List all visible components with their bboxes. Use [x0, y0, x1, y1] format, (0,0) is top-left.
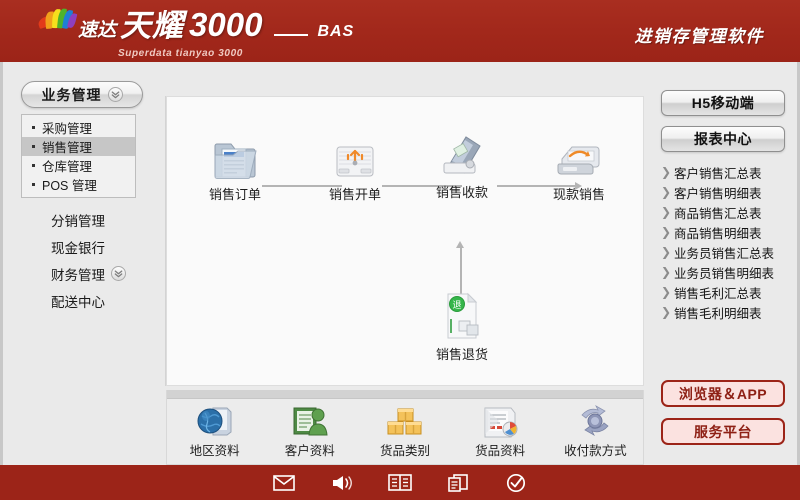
report-link-salesperson-sales-detail[interactable]: ❯ 业务员销售明细表 [661, 262, 791, 282]
flow-node-sales-order[interactable]: 销售订单 [191, 135, 279, 203]
sidebar-submenu-label: POS 管理 [42, 175, 97, 194]
boxes-icon [362, 403, 448, 439]
report-link-label: 销售毛利明细表 [674, 303, 762, 322]
report-link-label: 业务员销售汇总表 [674, 243, 774, 262]
sidebar-main-label: 现金银行 [51, 237, 105, 257]
chevron-double-down-icon[interactable] [111, 266, 126, 281]
basic-item-payment-method[interactable]: 收付款方式 [552, 403, 638, 459]
chevron-right-icon: ❯ [661, 306, 674, 318]
brand-edition: BAS [317, 24, 354, 40]
flow-node-sales-receipt[interactable]: 销售收款 [418, 133, 506, 201]
sidebar-submenu-label: 采购管理 [42, 118, 92, 137]
sales-flow-panel: 销售订单 [166, 96, 644, 386]
brand-pinyin: Superdata tianyao 3000 [118, 48, 354, 59]
flow-node-label: 销售订单 [191, 184, 279, 203]
globe-icon [172, 403, 258, 439]
report-link-label: 客户销售汇总表 [674, 163, 762, 182]
service-platform-button[interactable]: 服务平台 [661, 418, 785, 445]
report-link-label: 商品销售明细表 [674, 223, 762, 242]
body-area: 业务管理 采购管理 销售管理 [0, 62, 800, 465]
chevron-right-icon: ❯ [661, 226, 674, 238]
payment-cycle-icon [552, 403, 638, 439]
report-link-gross-profit-detail[interactable]: ❯ 销售毛利明细表 [661, 302, 791, 322]
chevron-right-icon: ❯ [661, 166, 674, 178]
bullet-icon [32, 126, 35, 129]
report-link-customer-sales-detail[interactable]: ❯ 客户销售明细表 [661, 182, 791, 202]
bullet-icon [32, 164, 35, 167]
brand-logo: 速达 天耀 3000 BAS Superdata tianyao 3000 [38, 8, 354, 59]
flow-node-label: 销售退货 [418, 344, 506, 363]
left-sidebar: 业务管理 采购管理 销售管理 [21, 81, 151, 314]
basic-item-goods-category[interactable]: 货品类别 [362, 403, 448, 459]
butterfly-logo-icon [38, 8, 74, 38]
basic-item-label: 货品类别 [362, 440, 448, 459]
brand-name-sudа: 速达 [78, 21, 116, 40]
bullet-icon [32, 183, 35, 186]
sidebar-submenu: 采购管理 销售管理 仓库管理 POS 管理 [21, 114, 136, 198]
brand-name-tianyao: 天耀 [120, 10, 184, 41]
sidebar-main-label: 财务管理 [51, 264, 105, 284]
svg-text:退: 退 [452, 300, 461, 311]
report-link-label: 销售毛利汇总表 [674, 283, 762, 302]
application-window: 速达 天耀 3000 BAS Superdata tianyao 3000 进销… [0, 0, 800, 500]
sidebar-item-purchase[interactable]: 采购管理 [22, 118, 135, 137]
app-header: 速达 天耀 3000 BAS Superdata tianyao 3000 进销… [0, 0, 800, 62]
sidebar-main-label: 配送中心 [51, 291, 105, 311]
report-link-product-sales-detail[interactable]: ❯ 商品销售明细表 [661, 222, 791, 242]
basic-item-label: 货品资料 [457, 440, 543, 459]
payment-terminal-icon [418, 133, 506, 179]
sidebar-main-label: 分销管理 [51, 210, 105, 230]
sidebar-module-label: 业务管理 [42, 85, 102, 105]
brand-version-number: 3000 [189, 8, 262, 41]
sidebar-main-menu: 分销管理 现金银行 财务管理 配送中心 [21, 206, 151, 314]
report-link-product-sales-summary[interactable]: ❯ 商品销售汇总表 [661, 202, 791, 222]
sidebar-module-button-business[interactable]: 业务管理 [21, 81, 143, 108]
report-link-salesperson-sales-summary[interactable]: ❯ 业务员销售汇总表 [661, 242, 791, 262]
invoice-device-icon [311, 135, 399, 181]
flow-node-sales-return[interactable]: 退 销售退货 [418, 289, 506, 363]
goods-report-icon [457, 403, 543, 439]
bullet-icon [32, 145, 35, 148]
status-bar [0, 465, 800, 500]
chevron-right-icon: ❯ [661, 206, 674, 218]
brand-text: 速达 天耀 3000 BAS Superdata tianyao 3000 [78, 8, 354, 59]
clock-check-icon[interactable] [504, 472, 528, 494]
report-link-label: 商品销售汇总表 [674, 203, 762, 222]
sidebar-item-warehouse[interactable]: 仓库管理 [22, 156, 135, 175]
flow-node-sales-invoice[interactable]: 销售开单 [311, 135, 399, 203]
chevron-right-icon: ❯ [661, 246, 674, 258]
basic-item-label: 收付款方式 [552, 440, 638, 459]
right-sidebar-action-buttons: 浏览器＆APP 服务平台 [661, 380, 791, 456]
brand-dash [274, 34, 308, 36]
sidebar-item-finance[interactable]: 财务管理 [21, 260, 151, 287]
cash-sale-icon [535, 135, 623, 181]
chevron-right-icon: ❯ [661, 286, 674, 298]
flow-node-label: 销售收款 [418, 182, 506, 201]
header-tagline: 进销存管理软件 [635, 22, 765, 47]
sidebar-submenu-label: 销售管理 [42, 137, 92, 156]
sidebar-item-sales[interactable]: 销售管理 [22, 137, 135, 156]
mail-icon[interactable] [272, 472, 296, 494]
basic-data-panel: 地区资料 [166, 390, 644, 465]
sidebar-item-cash-bank[interactable]: 现金银行 [21, 233, 151, 260]
report-link-gross-profit-summary[interactable]: ❯ 销售毛利汇总表 [661, 282, 791, 302]
basic-item-customer[interactable]: 客户资料 [267, 403, 353, 459]
volume-icon[interactable] [330, 472, 354, 494]
flow-node-cash-sale[interactable]: 现款销售 [535, 135, 623, 203]
report-link-list: ❯ 客户销售汇总表 ❯ 客户销售明细表 ❯ 商品销售汇总表 ❯ 商品销售明细表 … [661, 162, 791, 322]
flow-arrowhead-4 [456, 241, 464, 248]
basic-item-goods-data[interactable]: 货品资料 [457, 403, 543, 459]
basic-item-label: 客户资料 [267, 440, 353, 459]
right-sidebar: H5移动端 报表中心 ❯ 客户销售汇总表 ❯ 客户销售明细表 ❯ 商品销售汇总表… [661, 90, 791, 322]
return-document-icon: 退 [418, 289, 506, 341]
customer-icon [267, 403, 353, 439]
browser-app-button[interactable]: 浏览器＆APP [661, 380, 785, 407]
sidebar-submenu-label: 仓库管理 [42, 156, 92, 175]
flow-node-label: 销售开单 [311, 184, 399, 203]
basic-item-label: 地区资料 [172, 440, 258, 459]
flow-node-label: 现款销售 [535, 184, 623, 203]
report-center-button[interactable]: 报表中心 [661, 126, 785, 152]
chevron-double-down-icon [108, 87, 123, 102]
folder-document-icon [191, 135, 279, 181]
book-icon[interactable] [388, 472, 412, 494]
flow-connector-4 [460, 247, 462, 295]
basic-item-region[interactable]: 地区资料 [172, 403, 258, 459]
panel-divider [167, 390, 643, 399]
report-link-label: 业务员销售明细表 [674, 263, 774, 282]
chevron-right-icon: ❯ [661, 186, 674, 198]
chevron-right-icon: ❯ [661, 266, 674, 278]
sidebar-item-distribution[interactable]: 分销管理 [21, 206, 151, 233]
report-link-customer-sales-summary[interactable]: ❯ 客户销售汇总表 [661, 162, 791, 182]
sidebar-item-delivery-center[interactable]: 配送中心 [21, 287, 151, 314]
copy-icon[interactable] [446, 472, 470, 494]
sidebar-item-pos[interactable]: POS 管理 [22, 175, 135, 194]
h5-mobile-button[interactable]: H5移动端 [661, 90, 785, 116]
report-link-label: 客户销售明细表 [674, 183, 762, 202]
